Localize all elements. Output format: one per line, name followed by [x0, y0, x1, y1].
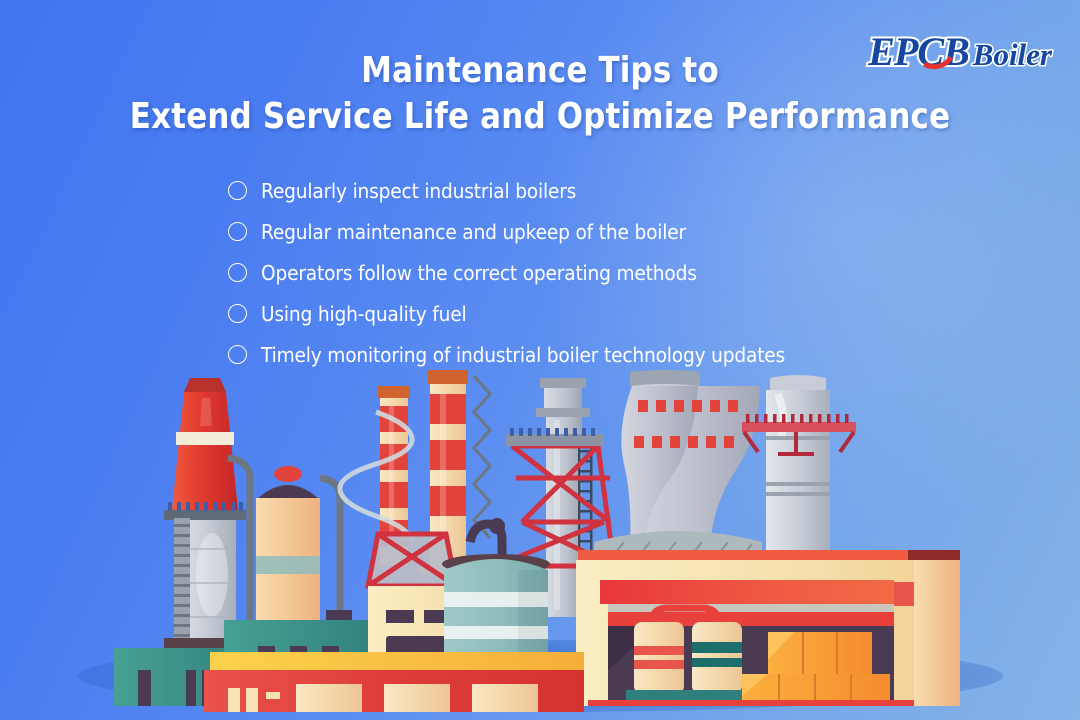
circle-bullet-icon	[228, 263, 247, 282]
circle-bullet-icon	[228, 304, 247, 323]
cooling-tower	[594, 370, 762, 564]
list-item[interactable]: Regular maintenance and upkeep of the bo…	[228, 211, 988, 252]
plant-artwork	[78, 370, 1008, 715]
circle-bullet-icon	[228, 181, 247, 200]
red-x-frame	[368, 534, 456, 586]
circle-bullet-icon	[228, 345, 247, 364]
gray-silo-walkway	[742, 375, 856, 560]
list-item-label: Regular maintenance and upkeep of the bo…	[261, 220, 686, 244]
lattice-tower-platform	[506, 428, 604, 446]
circle-bullet-icon	[228, 222, 247, 241]
red-flare-tower	[172, 378, 238, 510]
boiler-tank-teal	[684, 622, 750, 702]
red-factory-building	[204, 652, 584, 712]
boiler-tank-red	[626, 622, 692, 702]
title-line-1: Maintenance Tips to	[76, 48, 1005, 94]
list-item-label: Regularly inspect industrial boilers	[261, 179, 576, 203]
title-line-2: Extend Service Life and Optimize Perform…	[76, 94, 1005, 140]
infographic-poster: EPCB Boiler Maintenance Tips to Extend S…	[0, 0, 1080, 720]
list-item[interactable]: Timely monitoring of industrial boiler t…	[228, 334, 988, 375]
list-item[interactable]: Regularly inspect industrial boilers	[228, 170, 988, 211]
list-item[interactable]: Operators follow the correct operating m…	[228, 252, 988, 293]
list-item-label: Using high-quality fuel	[261, 302, 466, 326]
list-item-label: Timely monitoring of industrial boiler t…	[261, 343, 785, 367]
list-item-label: Operators follow the correct operating m…	[261, 261, 697, 285]
tips-list: Regularly inspect industrial boilers Reg…	[228, 170, 988, 375]
warehouse	[576, 550, 960, 706]
page-title: Maintenance Tips to Extend Service Life …	[76, 48, 1005, 140]
list-item[interactable]: Using high-quality fuel	[228, 293, 988, 334]
